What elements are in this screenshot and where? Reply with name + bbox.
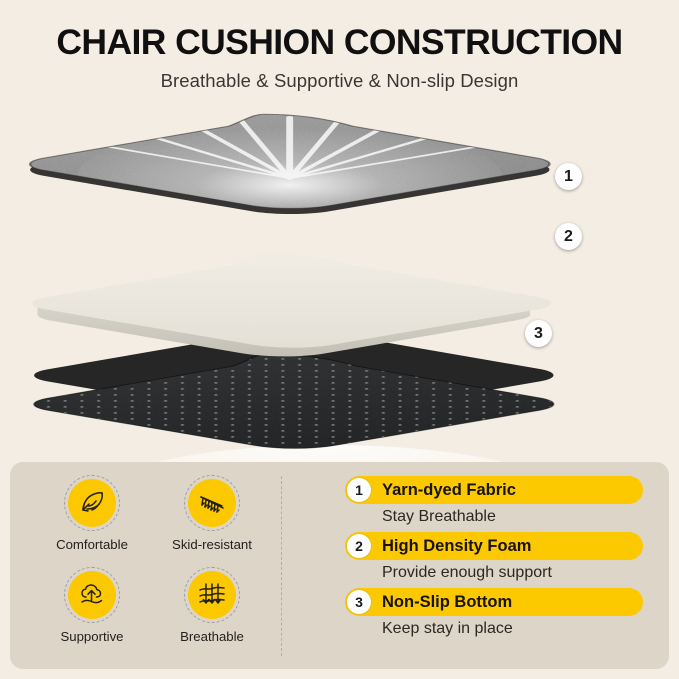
feature-number: 3 — [346, 589, 372, 615]
feature-pill[interactable]: 1 Yarn-dyed Fabric — [345, 476, 643, 504]
icon-ring — [64, 475, 120, 531]
feature-subtitle: Provide enough support — [382, 564, 645, 582]
feature-pill[interactable]: 2 High Density Foam — [345, 532, 643, 560]
feature-subtitle: Stay Breathable — [382, 508, 645, 526]
benefit-label: Skid-resistant — [172, 537, 252, 552]
airflow-icon — [188, 571, 236, 619]
feature-number: 1 — [346, 477, 372, 503]
feature-subtitle: Keep stay in place — [382, 620, 645, 638]
page-subtitle: Breathable & Supportive & Non-slip Desig… — [0, 70, 679, 92]
feature-number: 2 — [346, 533, 372, 559]
cushion-layers-svg — [0, 95, 679, 465]
layer-badge-3: 3 — [525, 320, 552, 347]
page-title: CHAIR CUSHION CONSTRUCTION — [0, 24, 679, 61]
feature-title: Non-Slip Bottom — [382, 593, 512, 612]
feature-row[interactable]: 3 Non-Slip Bottom Keep stay in place — [345, 588, 645, 638]
layer-2-foam — [32, 253, 551, 356]
icon-ring — [184, 567, 240, 623]
feature-row[interactable]: 1 Yarn-dyed Fabric Stay Breathable — [345, 476, 645, 526]
feature-title: Yarn-dyed Fabric — [382, 481, 516, 500]
feature-title: High Density Foam — [382, 537, 531, 556]
benefit-label: Supportive — [60, 629, 123, 644]
benefit-supportive[interactable]: Supportive — [32, 567, 152, 659]
benefit-breathable[interactable]: Breathable — [152, 567, 272, 659]
icon-ring — [64, 567, 120, 623]
benefit-comfortable[interactable]: Comfortable — [32, 475, 152, 567]
benefit-label: Comfortable — [56, 537, 128, 552]
layer-badge-2: 2 — [555, 223, 582, 250]
layer-badge-1: 1 — [555, 163, 582, 190]
exploded-cushion-diagram: 1 2 3 — [0, 95, 679, 465]
cloud-arrow-icon — [68, 571, 116, 619]
page-header: CHAIR CUSHION CONSTRUCTION Breathable & … — [0, 0, 679, 92]
feature-list: 1 Yarn-dyed Fabric Stay Breathable 2 Hig… — [345, 476, 645, 644]
panel-divider — [281, 476, 282, 656]
layer-1-fabric — [6, 111, 617, 231]
benefit-icon-grid: Comfortable Skid-resistant — [32, 475, 272, 659]
benefit-skid-resistant[interactable]: Skid-resistant — [152, 475, 272, 567]
feature-row[interactable]: 2 High Density Foam Provide enough suppo… — [345, 532, 645, 582]
bristles-icon — [188, 479, 236, 527]
benefit-label: Breathable — [180, 629, 244, 644]
feather-icon — [68, 479, 116, 527]
feature-panel: Comfortable Skid-resistant — [10, 462, 669, 669]
feature-pill[interactable]: 3 Non-Slip Bottom — [345, 588, 643, 616]
icon-ring — [184, 475, 240, 531]
